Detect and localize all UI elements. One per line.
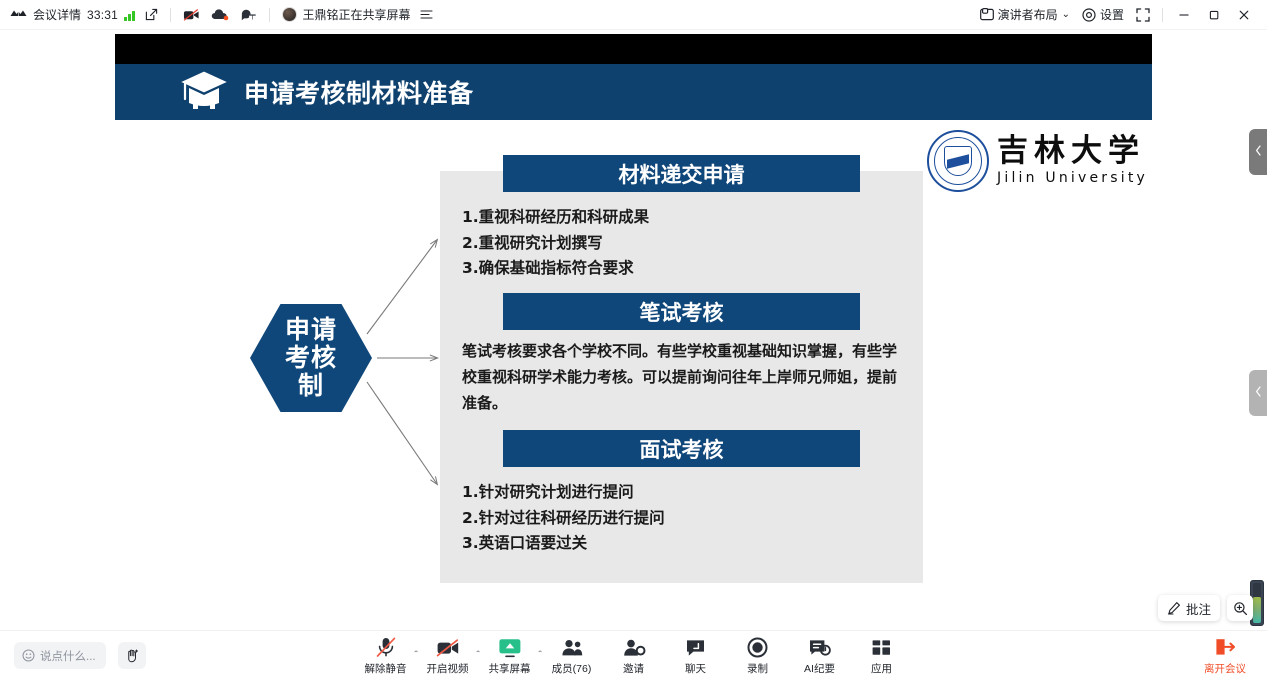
tool-label: 聊天: [685, 661, 706, 676]
university-name-en: Jilin University: [997, 170, 1148, 186]
university-name-cn: 吉林大学: [997, 136, 1148, 167]
title-bar-left: 会议详情 33:31: [0, 6, 433, 23]
leave-meeting-label: 离开会议: [1204, 661, 1246, 676]
hexagon-node: 申请 考核 制: [250, 304, 372, 412]
chevron-down-icon: ⌄: [1062, 9, 1070, 20]
shared-slide: 申请考核制材料准备 吉林大学 Jilin University: [115, 34, 1152, 618]
side-panel-toggle-top[interactable]: [1249, 129, 1267, 175]
chevron-left-icon: [1255, 386, 1262, 400]
tool-label: 开启视频: [427, 661, 469, 676]
video-off-icon[interactable]: [183, 8, 200, 22]
list-item: 1.针对研究计划进行提问: [462, 480, 901, 506]
meeting-detail-label[interactable]: 会议详情: [33, 6, 81, 23]
meeting-window: 会议详情 33:31: [0, 0, 1267, 680]
list-item: 2.重视研究计划撰写: [462, 231, 901, 257]
hexagon-line-2: 考核: [285, 344, 337, 372]
title-bar: 会议详情 33:31: [0, 0, 1267, 30]
list-item: 3.英语口语要过关: [462, 531, 901, 557]
tool-label: 录制: [747, 661, 768, 676]
invite-button[interactable]: 邀请: [605, 632, 663, 680]
slide-title: 申请考核制材料准备: [244, 74, 474, 110]
slide-top-black-band: [115, 34, 1152, 64]
content-box-heading: 面试考核: [503, 430, 860, 467]
invite-icon: [622, 636, 646, 658]
slide-header: 申请考核制材料准备: [115, 64, 1152, 120]
jilin-university-seal-icon: [927, 130, 989, 192]
slide-canvas: 申请考核制材料准备 吉林大学 Jilin University: [115, 34, 1152, 618]
unmute-button[interactable]: 解除静音 ⌃: [357, 632, 415, 680]
fullscreen-button[interactable]: [1130, 5, 1156, 25]
maximize-button[interactable]: [1199, 2, 1229, 28]
signal-bars-icon[interactable]: [124, 9, 135, 21]
tool-label: 应用: [871, 661, 892, 676]
svg-text:T: T: [249, 15, 254, 21]
shared-screen-stage: 申请考核制材料准备 吉林大学 Jilin University: [0, 30, 1267, 630]
side-panel-toggle-middle[interactable]: [1249, 370, 1267, 416]
divider: [1162, 8, 1163, 22]
ai-minutes-button[interactable]: AI纪要: [791, 632, 849, 680]
bottom-toolbar: 说点什么... 解: [0, 630, 1267, 680]
layout-button[interactable]: 演讲者布局 ⌄: [974, 3, 1076, 26]
divider: [170, 8, 171, 22]
apps-button[interactable]: 应用: [853, 632, 911, 680]
share-screen-icon: [498, 636, 522, 658]
layout-icon: [980, 8, 994, 21]
list-item: 3.确保基础指标符合要求: [462, 256, 901, 282]
pencil-icon: [1167, 601, 1181, 615]
chat-icon: [685, 636, 706, 658]
graduation-cap-icon: [178, 69, 230, 116]
chevron-left-icon: [1255, 145, 1262, 159]
layout-label: 演讲者布局: [998, 6, 1058, 23]
tool-label: 解除静音: [365, 661, 407, 676]
annotation-toolbar: 批注: [1158, 595, 1253, 621]
leave-meeting-button[interactable]: 离开会议: [1195, 633, 1255, 679]
popout-icon[interactable]: [145, 8, 158, 21]
participants-icon: [560, 636, 584, 658]
participants-button[interactable]: 成员(76): [543, 632, 601, 680]
settings-button[interactable]: 设置: [1076, 3, 1130, 26]
tool-label: AI纪要: [804, 661, 835, 676]
settings-label: 设置: [1100, 6, 1124, 23]
hexagon-line-3: 制: [298, 372, 324, 400]
zoom-in-icon: [1233, 601, 1248, 616]
list-item: 1.重视科研经历和科研成果: [462, 205, 901, 231]
cloud-recording-icon[interactable]: [211, 8, 229, 21]
content-box: 面试考核 1.针对研究计划进行提问 2.针对过往科研经历进行提问 3.英语口语要…: [440, 446, 923, 583]
apps-icon: [871, 636, 892, 658]
fullscreen-icon: [1136, 8, 1150, 22]
content-box-heading: 笔试考核: [503, 293, 860, 330]
divider: [269, 8, 270, 22]
content-box: 笔试考核 笔试考核要求各个学校不同。有些学校重视基础知识掌握，有些学校重视科研学…: [440, 309, 923, 446]
hexagon-line-1: 申请: [285, 316, 337, 344]
content-box: 材料递交申请 1.重视科研经历和科研成果 2.重视研究计划撰写 3.确保基础指标…: [440, 171, 923, 309]
meeting-timer: 33:31: [87, 8, 118, 22]
list-menu-icon[interactable]: [420, 9, 433, 20]
avatar: [282, 7, 297, 22]
paragraph: 笔试考核要求各个学校不同。有些学校重视基础知识掌握，有些学校重视科研学术能力考核…: [462, 339, 901, 416]
leave-meeting-icon: [1214, 636, 1236, 658]
list-item: 2.针对过往科研经历进行提问: [462, 506, 901, 532]
start-video-button[interactable]: 开启视频 ⌃: [419, 632, 477, 680]
camera-off-icon: [436, 636, 460, 658]
content-box-heading: 材料递交申请: [503, 155, 860, 192]
meeting-controls: 解除静音 ⌃ 开启视频 ⌃: [0, 631, 1267, 680]
tool-label: 邀请: [623, 661, 644, 676]
university-logo: 吉林大学 Jilin University: [927, 130, 1148, 192]
close-button[interactable]: [1229, 2, 1259, 28]
ai-minutes-icon: [808, 636, 831, 658]
sharer-status-label: 王鼎铭正在共享屏幕: [303, 6, 411, 23]
share-screen-button[interactable]: 共享屏幕 ⌃: [481, 632, 539, 680]
tool-label: 共享屏幕: [489, 661, 531, 676]
minimize-button[interactable]: [1169, 2, 1199, 28]
mic-muted-icon: [375, 636, 397, 658]
title-bar-right: 演讲者布局 ⌄ 设置: [974, 2, 1267, 28]
tool-label: 成员(76): [552, 661, 592, 676]
zoom-in-button[interactable]: [1227, 595, 1253, 621]
annotate-button[interactable]: 批注: [1158, 595, 1220, 621]
annotate-label: 批注: [1186, 599, 1211, 618]
record-button[interactable]: 录制: [729, 632, 787, 680]
mountain-icon: [10, 7, 27, 22]
chat-button[interactable]: 聊天: [667, 632, 725, 680]
subtitle-icon[interactable]: T: [240, 8, 257, 22]
gear-icon: [1082, 8, 1096, 22]
record-icon: [747, 636, 768, 658]
